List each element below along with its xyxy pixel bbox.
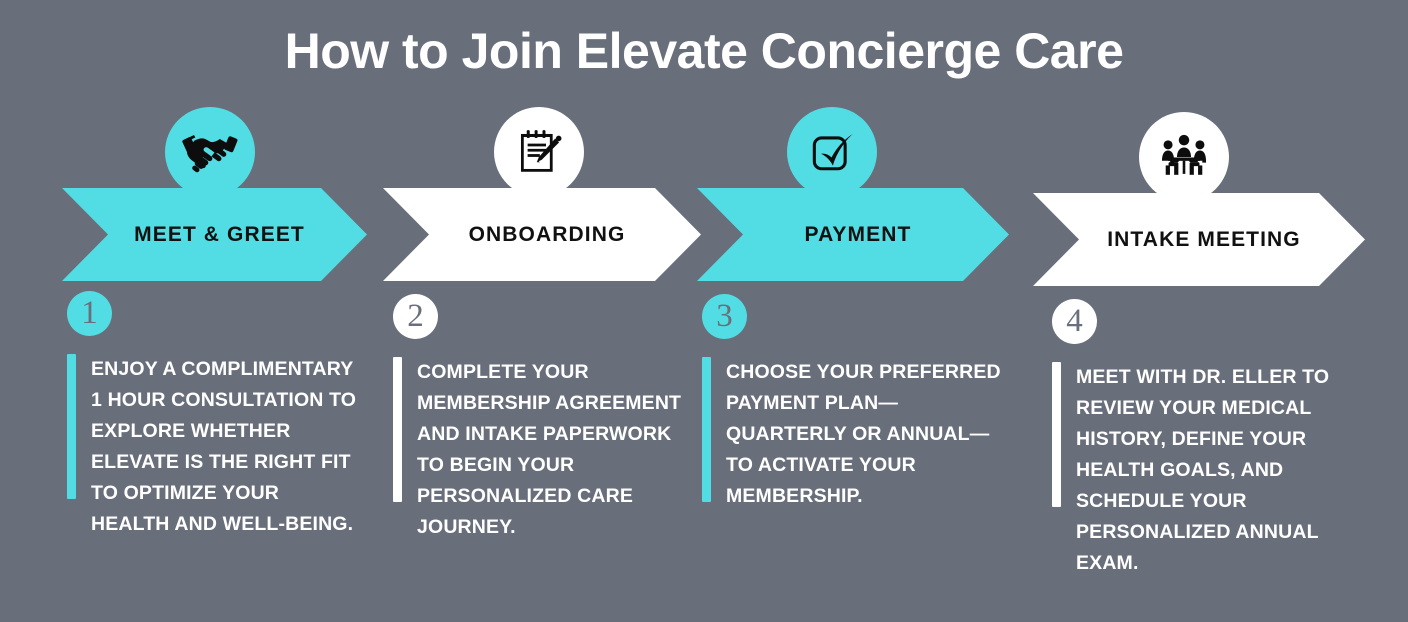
handshake-icon bbox=[165, 107, 255, 197]
notepad-pencil-icon bbox=[494, 107, 584, 197]
step-description-4: MEET WITH DR. ELLER TO REVIEW YOUR MEDIC… bbox=[1061, 362, 1352, 579]
step-description-2: COMPLETE YOUR MEMBERSHIP AGREEMENT AND I… bbox=[402, 357, 683, 543]
accent-bar-1 bbox=[67, 354, 76, 499]
checkbox-check-icon bbox=[787, 107, 877, 197]
step-description-3: CHOOSE YOUR PREFERRED PAYMENT PLAN—QUART… bbox=[711, 357, 1002, 512]
accent-bar-4 bbox=[1052, 362, 1061, 507]
step-banner-1[interactable]: MEET & GREET bbox=[62, 188, 367, 281]
step-banner-3[interactable]: PAYMENT bbox=[697, 188, 1009, 281]
step-description-wrap-1: ENJOY A COMPLIMENTARY 1 HOUR CONSULTATIO… bbox=[67, 354, 357, 540]
step-label-4: INTAKE MEETING bbox=[1097, 228, 1301, 252]
steps-container: MEET & GREET 1 ENJOY A COMPLIMENTARY 1 H… bbox=[0, 0, 1408, 622]
step-description-wrap-2: COMPLETE YOUR MEMBERSHIP AGREEMENT AND I… bbox=[393, 357, 683, 543]
accent-bar-3 bbox=[702, 357, 711, 502]
step-label-3: PAYMENT bbox=[795, 223, 912, 247]
step-description-1: ENJOY A COMPLIMENTARY 1 HOUR CONSULTATIO… bbox=[76, 354, 357, 540]
step-number-badge-1: 1 bbox=[67, 291, 112, 336]
step-description-wrap-4: MEET WITH DR. ELLER TO REVIEW YOUR MEDIC… bbox=[1052, 362, 1352, 579]
step-number-badge-2: 2 bbox=[393, 294, 438, 339]
step-number-badge-3: 3 bbox=[702, 294, 747, 339]
step-description-wrap-3: CHOOSE YOUR PREFERRED PAYMENT PLAN—QUART… bbox=[702, 357, 1002, 512]
step-banner-4[interactable]: INTAKE MEETING bbox=[1033, 193, 1365, 286]
meeting-table-icon bbox=[1139, 112, 1229, 202]
step-banner-2[interactable]: ONBOARDING bbox=[383, 188, 701, 281]
step-label-2: ONBOARDING bbox=[459, 223, 626, 247]
step-label-1: MEET & GREET bbox=[124, 223, 305, 247]
accent-bar-2 bbox=[393, 357, 402, 502]
step-number-badge-4: 4 bbox=[1052, 299, 1097, 344]
